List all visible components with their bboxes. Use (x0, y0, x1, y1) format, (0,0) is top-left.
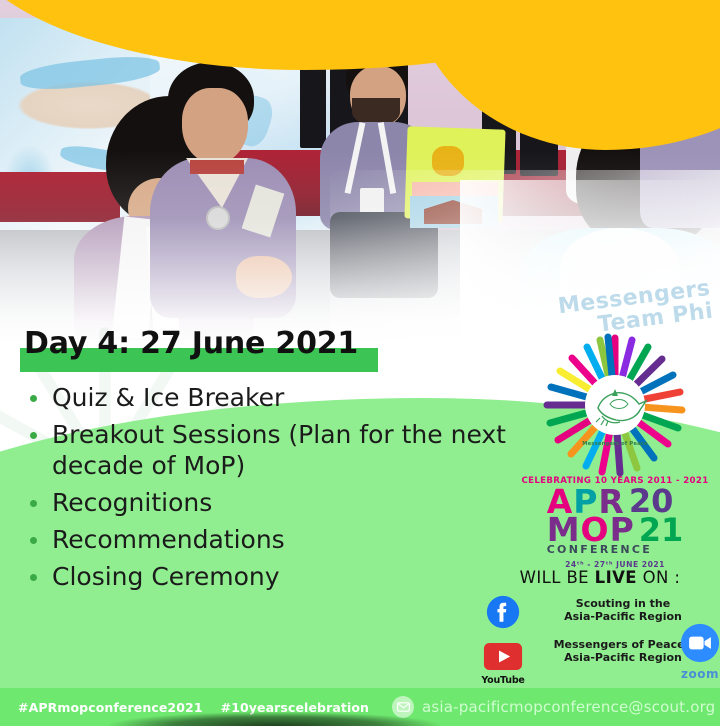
list-item: Closing Ceremony (18, 561, 518, 592)
live-title-bold: LIVE (595, 568, 637, 587)
event-photo: Messengers Team Phi (0, 0, 720, 340)
youtube-icon-group[interactable]: YouTube (480, 643, 526, 686)
list-item: Recognitions (18, 487, 518, 518)
messengers-of-peace-sunburst-icon: Messengers of Peace (540, 330, 690, 480)
day-heading-group: Day 4: 27 June 2021 (20, 326, 362, 361)
list-item: Quiz & Ice Breaker (18, 382, 518, 413)
agenda-item-text: Closing Ceremony (52, 562, 280, 591)
agenda-item-text: Recommendations (52, 525, 285, 554)
zoom-icon[interactable] (680, 623, 720, 663)
email-icon (392, 696, 414, 718)
live-title-pre: WILL BE (520, 568, 595, 587)
contact-email: asia-pacificmopconference@scout.org (422, 698, 715, 716)
bullet-dot-icon (30, 537, 37, 544)
content-area: Day 4: 27 June 2021 Quiz & Ice Breaker B… (0, 300, 720, 726)
apr-mop-conference-logo: Messengers of Peace CELEBRATING 10 YEARS… (520, 330, 710, 570)
live-broadcast-block: WILL BE LIVE ON : YouTube (480, 568, 720, 686)
footer-email-group[interactable]: asia-pacificmopconference@scout.org (392, 696, 715, 718)
footer-hashtags: #APRmopconference2021 #10yearscelebratio… (18, 700, 369, 715)
bullet-dot-icon (30, 500, 37, 507)
hashtag-conference: #APRmopconference2021 (18, 700, 203, 715)
youtube-wordmark: YouTube (480, 675, 526, 686)
mop-emblem-label: Messengers of Peace (582, 441, 648, 447)
bullet-dot-icon (30, 395, 37, 402)
facebook-channel-label: Scouting in the Asia-Pacific Region (526, 597, 720, 624)
facebook-channel-line1: Scouting in the (526, 597, 720, 610)
year-bottom: 21 (639, 517, 684, 545)
poster-canvas: Messengers Team Phi (0, 0, 720, 726)
zoom-channel[interactable]: zoom (672, 623, 720, 681)
channel-icons-column: YouTube (480, 593, 526, 686)
bullet-dot-icon (30, 432, 37, 439)
live-title-post: ON : (637, 568, 680, 587)
list-item: Breakout Sessions (Plan for the next dec… (18, 419, 518, 481)
footer-bar: #APRmopconference2021 #10yearscelebratio… (0, 688, 720, 726)
facebook-channel-line2: Asia-Pacific Region (526, 610, 720, 623)
mop-text: MOP (547, 516, 635, 544)
agenda-item-text: Quiz & Ice Breaker (52, 383, 284, 412)
live-channels: YouTube Scouting in the Asia-Pacific Reg… (480, 593, 720, 686)
bullet-dot-icon (30, 574, 37, 581)
hashtag-celebration: #10yearscelebration (221, 700, 369, 715)
apr-mop-wordmark: APR 20 MOP 21 CONFERENCE (547, 488, 684, 556)
agenda-list: Quiz & Ice Breaker Breakout Sessions (Pl… (18, 382, 518, 598)
page-title: Day 4: 27 June 2021 (20, 326, 362, 361)
youtube-icon[interactable] (483, 643, 523, 670)
zoom-wordmark: zoom (672, 667, 720, 681)
agenda-item-text: Recognitions (52, 488, 212, 517)
list-item: Recommendations (18, 524, 518, 555)
agenda-item-text: Breakout Sessions (Plan for the next dec… (52, 420, 506, 480)
live-on-title: WILL BE LIVE ON : (480, 568, 720, 587)
facebook-icon[interactable] (486, 595, 520, 629)
